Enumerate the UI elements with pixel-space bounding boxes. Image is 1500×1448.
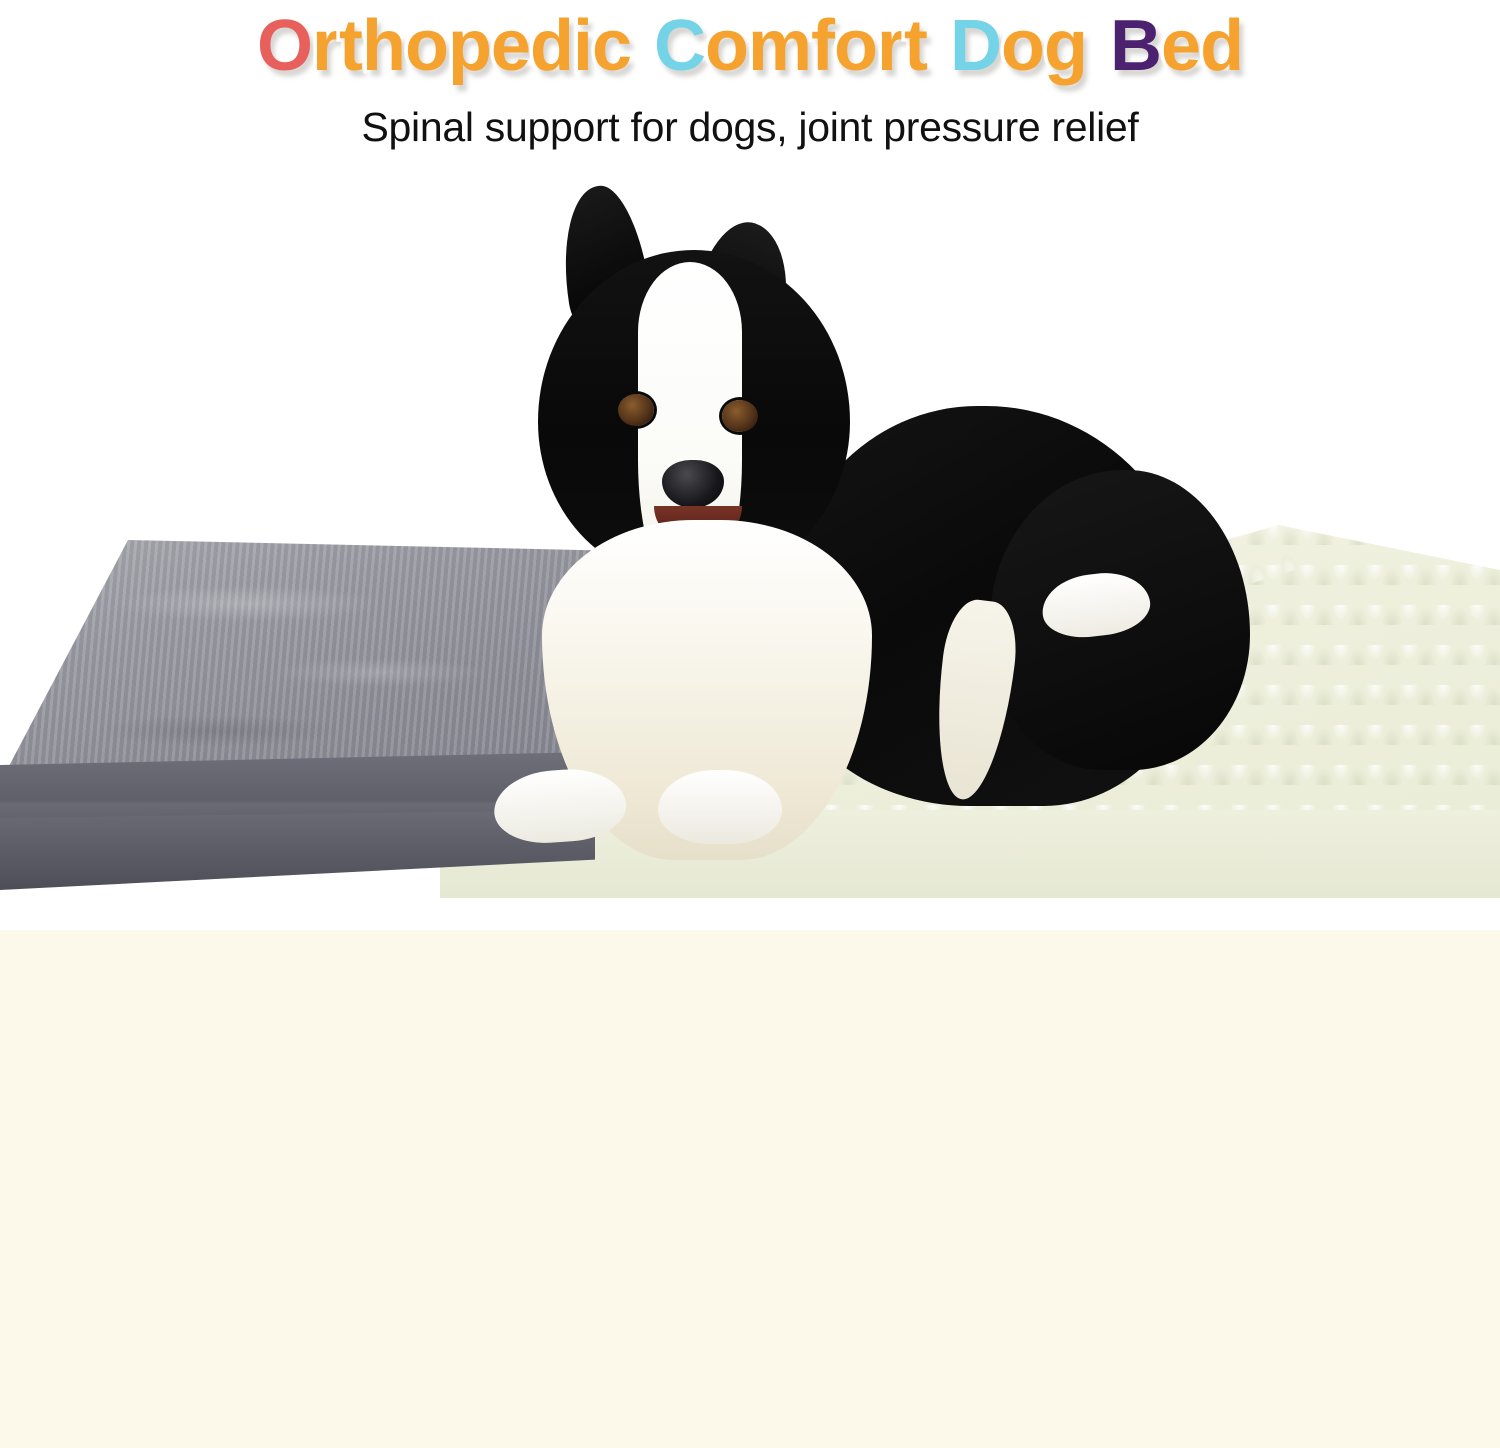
title-letter: f: [811, 2, 834, 90]
dog-right-eye: [722, 400, 758, 432]
page-title: Orthopedic Comfort Dog Bed: [0, 2, 1500, 90]
dog-left-eye: [618, 394, 654, 426]
hero-section: Orthopedic Comfort Dog Bed Spinal suppor…: [0, 0, 1500, 930]
title-letter: o: [834, 2, 877, 90]
title-letter: O: [257, 2, 312, 90]
title-letter: d: [530, 2, 573, 90]
title-letter: p: [448, 2, 491, 90]
product-photo-composite: [0, 170, 1500, 915]
title-letter: c: [592, 2, 631, 90]
title-letter: d: [1200, 2, 1243, 90]
title-letter: m: [748, 2, 811, 90]
title-letter: e: [1161, 2, 1200, 90]
title-letter: h: [362, 2, 405, 90]
title-letter: i: [573, 2, 592, 90]
dog-front-right-paw: [658, 770, 782, 844]
title-letter: o: [1001, 2, 1044, 90]
title-letter: o: [705, 2, 748, 90]
title-word-orthopedic: Orthopedic: [257, 2, 631, 90]
title-letter: t: [904, 2, 927, 90]
title-letter: r: [877, 2, 904, 90]
title-letter: r: [312, 2, 339, 90]
title-letter: C: [654, 2, 705, 90]
title-letter: g: [1044, 2, 1087, 90]
page-subtitle: Spinal support for dogs, joint pressure …: [0, 104, 1500, 151]
title-letter: t: [339, 2, 362, 90]
title-letter: e: [491, 2, 530, 90]
title-word-bed: Bed: [1110, 2, 1243, 90]
border-collie-dog: [430, 170, 1190, 860]
product-infographic-page: Orthopedic Comfort Dog Bed Spinal suppor…: [0, 0, 1500, 1448]
title-letter: B: [1110, 2, 1161, 90]
features-section: Pressure Relief Foam Egg-crate foam cont…: [0, 930, 1500, 1448]
title-letter: o: [405, 2, 448, 90]
title-letter: D: [950, 2, 1001, 90]
title-word-comfort: Comfort: [654, 2, 927, 90]
title-word-dog: Dog: [950, 2, 1087, 90]
